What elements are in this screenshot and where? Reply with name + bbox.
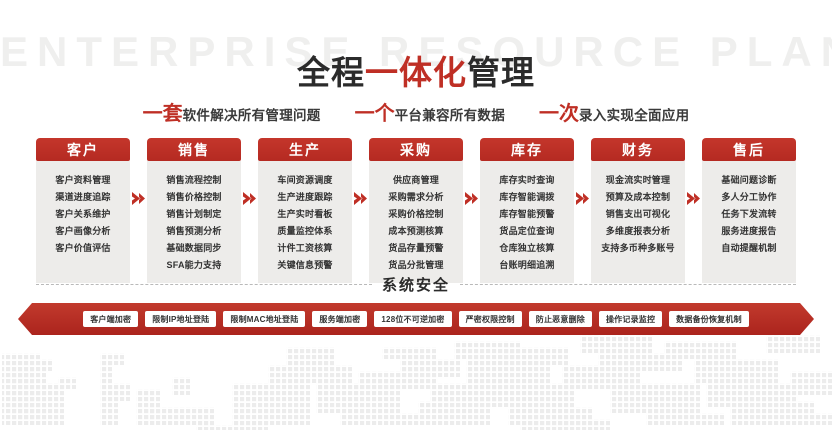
module-item: 供应商管理 xyxy=(393,175,439,185)
subtitle-item-3: 一次录入实现全面应用 xyxy=(539,97,689,126)
security-item[interactable]: 限制MAC地址登陆 xyxy=(223,311,305,327)
module-item: 货品分批管理 xyxy=(388,260,443,270)
module-item: 多维度报表分析 xyxy=(606,226,670,236)
module-item: 关键信息预警 xyxy=(277,260,332,270)
module-items-production: 车间资源调度 生产进度跟踪 生产实时看板 质量监控体系 计件工资核算 关键信息预… xyxy=(258,161,352,283)
module-item: 采购需求分析 xyxy=(388,192,443,202)
module-title-aftersales: 售后 xyxy=(702,138,796,161)
module-item: 生产实时看板 xyxy=(277,209,332,219)
module-item: 基础数据同步 xyxy=(166,243,221,253)
security-section-title: 系统安全 xyxy=(382,274,450,295)
module-item: SFA能力支持 xyxy=(167,260,222,270)
module-item: 台账明细追溯 xyxy=(499,260,554,270)
module-items-finance: 现金流实时管理 预算及成本控制 销售支出可视化 多维度报表分析 支持多币种多账号 xyxy=(591,161,685,283)
subtitle-item-2: 一个平台兼容所有数据 xyxy=(355,97,505,126)
module-item: 支持多币种多账号 xyxy=(601,243,675,253)
module-items-sales: 销售流程控制 销售价格控制 销售计划制定 销售预测分析 基础数据同步 SFA能力… xyxy=(147,161,241,283)
subtitle-item-1-highlight: 一套 xyxy=(143,103,183,125)
divider-right xyxy=(460,284,796,285)
module-title-purchasing: 采购 xyxy=(369,138,463,161)
module-item: 车间资源调度 xyxy=(277,175,332,185)
security-item[interactable]: 服务端加密 xyxy=(312,311,367,327)
arrow-chevron-icon xyxy=(241,138,258,258)
module-item: 销售预测分析 xyxy=(166,226,221,236)
security-items: 客户端加密 限制IP地址登陆 限制MAC地址登陆 服务端加密 128位不可逆加密… xyxy=(18,303,814,335)
module-items-purchasing: 供应商管理 采购需求分析 采购价格控制 成本预测核算 货品存量预警 货品分批管理 xyxy=(369,161,463,283)
arrow-chevron-icon xyxy=(130,138,147,258)
module-card-finance[interactable]: 财务 现金流实时管理 预算及成本控制 销售支出可视化 多维度报表分析 支持多币种… xyxy=(591,138,685,283)
module-columns: 客户 客户资料管理 渠道进度追踪 客户关系维护 客户画像分析 客户价值评估 销售… xyxy=(36,138,796,283)
module-item: 渠道进度追踪 xyxy=(55,192,110,202)
module-item: 采购价格控制 xyxy=(388,209,443,219)
module-title-sales: 销售 xyxy=(147,138,241,161)
security-item[interactable]: 操作记录监控 xyxy=(599,311,662,327)
module-item: 客户价值评估 xyxy=(55,243,110,253)
security-item[interactable]: 限制IP地址登陆 xyxy=(145,311,216,327)
module-card-inventory[interactable]: 库存 库存实时查询 库存智能调拨 库存智能预警 货品定位查询 仓库独立核算 台账… xyxy=(480,138,574,283)
security-item[interactable]: 严密权限控制 xyxy=(459,311,522,327)
module-item: 货品存量预警 xyxy=(388,243,443,253)
module-item: 销售价格控制 xyxy=(166,192,221,202)
module-item: 自动提醒机制 xyxy=(721,243,776,253)
module-item: 预算及成本控制 xyxy=(606,192,670,202)
module-title-finance: 财务 xyxy=(591,138,685,161)
arrow-chevron-icon xyxy=(685,138,702,258)
subtitle-item-2-text: 平台兼容所有数据 xyxy=(395,108,505,123)
module-item: 客户画像分析 xyxy=(55,226,110,236)
module-item: 货品定位查询 xyxy=(499,226,554,236)
subtitle-item-1-text: 软件解决所有管理问题 xyxy=(183,108,321,123)
module-item: 计件工资核算 xyxy=(277,243,332,253)
subtitle-item-3-highlight: 一次 xyxy=(539,103,579,125)
module-item: 多人分工协作 xyxy=(721,192,776,202)
page-title-part2: 管理 xyxy=(467,54,535,91)
module-card-sales[interactable]: 销售 销售流程控制 销售价格控制 销售计划制定 销售预测分析 基础数据同步 SF… xyxy=(147,138,241,283)
security-bar: 客户端加密 限制IP地址登陆 限制MAC地址登陆 服务端加密 128位不可逆加密… xyxy=(18,303,814,335)
module-card-aftersales[interactable]: 售后 基础问题诊断 多人分工协作 任务下发流转 服务进度报告 自动提醒机制 xyxy=(702,138,796,283)
module-item: 仓库独立核算 xyxy=(499,243,554,253)
module-item: 销售流程控制 xyxy=(166,175,221,185)
security-item[interactable]: 数据备份恢复机制 xyxy=(669,311,749,327)
module-item: 服务进度报告 xyxy=(721,226,776,236)
subtitle-item-2-highlight: 一个 xyxy=(355,103,395,125)
module-item: 销售支出可视化 xyxy=(606,209,670,219)
page-title-accent: 一体化 xyxy=(365,54,467,91)
module-card-customer[interactable]: 客户 客户资料管理 渠道进度追踪 客户关系维护 客户画像分析 客户价值评估 xyxy=(36,138,130,283)
module-card-production[interactable]: 生产 车间资源调度 生产进度跟踪 生产实时看板 质量监控体系 计件工资核算 关键… xyxy=(258,138,352,283)
divider-left xyxy=(36,284,372,285)
arrow-chevron-icon xyxy=(574,138,591,258)
subtitle-row: 一套软件解决所有管理问题 一个平台兼容所有数据 一次录入实现全面应用 xyxy=(0,97,832,126)
module-item: 成本预测核算 xyxy=(388,226,443,236)
module-item: 质量监控体系 xyxy=(277,226,332,236)
security-item[interactable]: 客户端加密 xyxy=(83,311,138,327)
module-items-aftersales: 基础问题诊断 多人分工协作 任务下发流转 服务进度报告 自动提醒机制 xyxy=(702,161,796,283)
module-card-purchasing[interactable]: 采购 供应商管理 采购需求分析 采购价格控制 成本预测核算 货品存量预警 货品分… xyxy=(369,138,463,283)
module-item: 库存实时查询 xyxy=(499,175,554,185)
page-title: 全程一体化管理 xyxy=(0,50,832,96)
module-item: 基础问题诊断 xyxy=(721,175,776,185)
world-map-dot-pattern xyxy=(0,325,832,430)
module-item: 销售计划制定 xyxy=(166,209,221,219)
module-title-inventory: 库存 xyxy=(480,138,574,161)
module-item: 现金流实时管理 xyxy=(606,175,670,185)
module-item: 客户关系维护 xyxy=(55,209,110,219)
security-item[interactable]: 128位不可逆加密 xyxy=(374,311,451,327)
subtitle-item-3-text: 录入实现全面应用 xyxy=(579,108,689,123)
module-title-production: 生产 xyxy=(258,138,352,161)
module-items-inventory: 库存实时查询 库存智能调拨 库存智能预警 货品定位查询 仓库独立核算 台账明细追… xyxy=(480,161,574,283)
module-title-customer: 客户 xyxy=(36,138,130,161)
module-item: 库存智能预警 xyxy=(499,209,554,219)
module-item: 任务下发流转 xyxy=(721,209,776,219)
arrow-chevron-icon xyxy=(463,138,480,258)
page-title-part1: 全程 xyxy=(297,54,365,91)
module-item: 库存智能调拨 xyxy=(499,192,554,202)
security-title-row: 系统安全 xyxy=(36,274,796,295)
module-items-customer: 客户资料管理 渠道进度追踪 客户关系维护 客户画像分析 客户价值评估 xyxy=(36,161,130,283)
security-item[interactable]: 防止恶意删除 xyxy=(529,311,592,327)
arrow-chevron-icon xyxy=(352,138,369,258)
module-item: 客户资料管理 xyxy=(55,175,110,185)
subtitle-item-1: 一套软件解决所有管理问题 xyxy=(143,97,321,126)
module-item: 生产进度跟踪 xyxy=(277,192,332,202)
